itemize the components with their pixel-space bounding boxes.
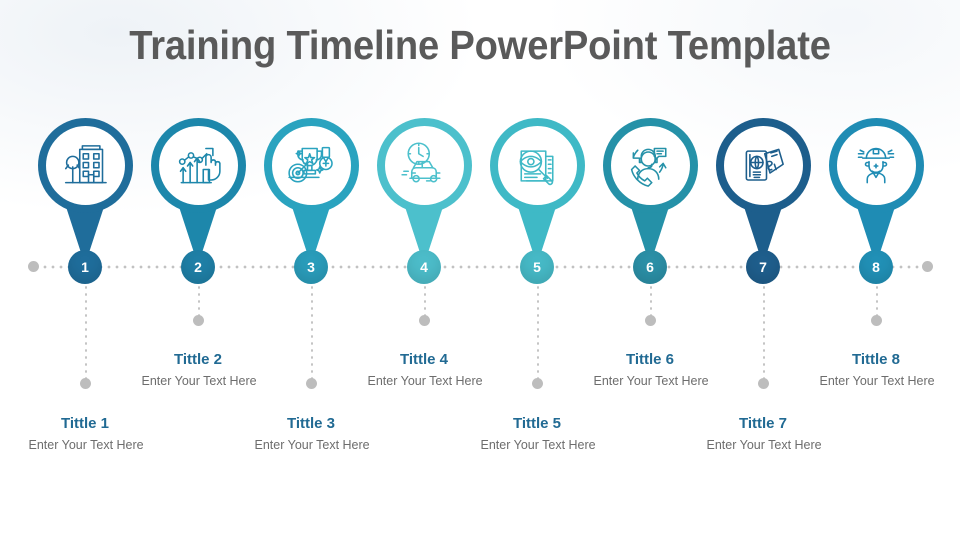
step-number-badge[interactable]: 6 — [633, 250, 667, 284]
step-connector-line — [876, 284, 878, 317]
step-title: Tittle 1 — [29, 415, 142, 434]
step-subtitle: Enter Your Text Here — [255, 438, 368, 454]
step-connector-dot — [645, 315, 656, 326]
step-title: Tittle 6 — [594, 351, 707, 370]
trophy-award-target-icon — [283, 138, 339, 194]
pin-marker[interactable] — [829, 118, 924, 213]
clock-car-icon — [396, 138, 452, 194]
step-number-badge[interactable]: 5 — [520, 250, 554, 284]
step-title: Tittle 7 — [707, 415, 820, 434]
timeline-step-8[interactable]: 8Tittle 8Enter Your Text Here — [820, 0, 933, 540]
step-number-badge[interactable]: 1 — [68, 250, 102, 284]
step-connector-line — [311, 284, 313, 380]
step-number-label: 6 — [633, 250, 667, 284]
step-number-badge[interactable]: 2 — [181, 250, 215, 284]
step-subtitle: Enter Your Text Here — [707, 438, 820, 454]
customer-support-headset-icon — [622, 138, 678, 194]
step-connector-line — [763, 284, 765, 380]
step-connector-line — [650, 284, 652, 317]
step-subtitle: Enter Your Text Here — [594, 374, 707, 390]
step-label-block: Tittle 4Enter Your Text Here — [368, 351, 481, 389]
step-number-label: 4 — [407, 250, 441, 284]
step-title: Tittle 4 — [368, 351, 481, 370]
slide-canvas: Training Timeline PowerPoint Template 1T… — [0, 0, 960, 540]
step-subtitle: Enter Your Text Here — [29, 438, 142, 454]
magnifier-eye-document-icon — [509, 138, 565, 194]
step-number-label: 5 — [520, 250, 554, 284]
step-label-block: Tittle 8Enter Your Text Here — [820, 351, 933, 389]
step-number-badge[interactable]: 7 — [746, 250, 780, 284]
step-label-block: Tittle 5Enter Your Text Here — [481, 415, 594, 453]
step-connector-line — [85, 284, 87, 380]
step-subtitle: Enter Your Text Here — [142, 374, 255, 390]
step-title: Tittle 8 — [820, 351, 933, 370]
step-subtitle: Enter Your Text Here — [481, 438, 594, 454]
step-subtitle: Enter Your Text Here — [368, 374, 481, 390]
step-label-block: Tittle 2Enter Your Text Here — [142, 351, 255, 389]
pin-marker[interactable] — [377, 118, 472, 213]
step-connector-dot — [80, 378, 91, 389]
step-label-block: Tittle 7Enter Your Text Here — [707, 415, 820, 453]
step-number-label: 2 — [181, 250, 215, 284]
step-title: Tittle 3 — [255, 415, 368, 434]
step-subtitle: Enter Your Text Here — [820, 374, 933, 390]
step-number-badge[interactable]: 8 — [859, 250, 893, 284]
pin-marker[interactable] — [490, 118, 585, 213]
step-connector-dot — [871, 315, 882, 326]
timeline-step-6[interactable]: 6Tittle 6Enter Your Text Here — [594, 0, 707, 540]
step-number-badge[interactable]: 3 — [294, 250, 328, 284]
step-title: Tittle 5 — [481, 415, 594, 434]
step-connector-dot — [306, 378, 317, 389]
step-connector-line — [537, 284, 539, 380]
step-number-label: 3 — [294, 250, 328, 284]
pin-marker[interactable] — [716, 118, 811, 213]
pin-marker[interactable] — [603, 118, 698, 213]
step-connector-dot — [758, 378, 769, 389]
timeline-step-2[interactable]: 2Tittle 2Enter Your Text Here — [142, 0, 255, 540]
passport-ticket-icon — [735, 138, 791, 194]
pin-marker[interactable] — [151, 118, 246, 213]
timeline-step-1[interactable]: 1Tittle 1Enter Your Text Here — [29, 0, 142, 540]
step-connector-line — [198, 284, 200, 317]
pin-marker[interactable] — [38, 118, 133, 213]
step-connector-dot — [193, 315, 204, 326]
timeline-step-4[interactable]: 4Tittle 4Enter Your Text Here — [368, 0, 481, 540]
step-label-block: Tittle 3Enter Your Text Here — [255, 415, 368, 453]
step-connector-line — [424, 284, 426, 317]
timeline-step-3[interactable]: 3Tittle 3Enter Your Text Here — [255, 0, 368, 540]
step-title: Tittle 2 — [142, 351, 255, 370]
step-connector-dot — [532, 378, 543, 389]
step-connector-dot — [419, 315, 430, 326]
step-label-block: Tittle 1Enter Your Text Here — [29, 415, 142, 453]
pin-marker[interactable] — [264, 118, 359, 213]
growth-chart-hand-icon — [170, 138, 226, 194]
office-building-icon — [57, 138, 113, 194]
timeline-step-5[interactable]: 5Tittle 5Enter Your Text Here — [481, 0, 594, 540]
worker-hardhat-icon — [848, 138, 904, 194]
timeline-step-7[interactable]: 7Tittle 7Enter Your Text Here — [707, 0, 820, 540]
step-number-label: 1 — [68, 250, 102, 284]
step-number-label: 7 — [746, 250, 780, 284]
step-number-badge[interactable]: 4 — [407, 250, 441, 284]
step-label-block: Tittle 6Enter Your Text Here — [594, 351, 707, 389]
step-number-label: 8 — [859, 250, 893, 284]
